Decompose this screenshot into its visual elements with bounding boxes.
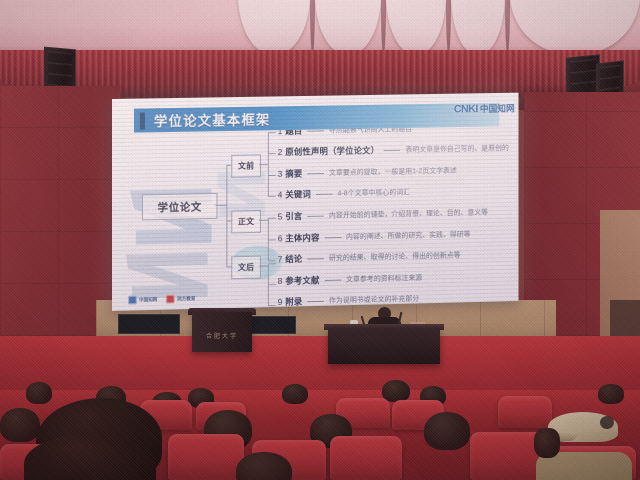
mindmap-group-back-matter: 文后 xyxy=(231,256,261,280)
wall-corner-dark xyxy=(610,300,640,340)
seat xyxy=(330,436,402,480)
cnki-chinese-name: 中国知网 xyxy=(480,102,515,115)
tongfang-footer-label: 同方教育 xyxy=(177,296,195,302)
item-title: 结论 xyxy=(285,253,302,265)
item-connector xyxy=(324,279,341,280)
audience-head xyxy=(0,408,40,442)
presentation-slide: 学位论文基本框架 CNKI 中国知网 学位论文 xyxy=(112,93,519,311)
item-title: 关键词 xyxy=(285,188,311,200)
cnki-logo-icon xyxy=(128,295,137,304)
item-description: 表明文章是你自己写的、是原创的 xyxy=(405,143,508,155)
mindmap-group-front-matter: 文前 xyxy=(231,154,261,177)
item-description: 内容开始前的铺垫，介绍背景、理论、目的、意义等 xyxy=(329,207,488,220)
group-label-back: 文后 xyxy=(238,262,254,273)
item-number: 4 xyxy=(278,190,283,200)
audience-head xyxy=(26,382,52,404)
mindmap-item: 4 关键词 4-8个文章中核心的词汇 xyxy=(278,186,410,201)
item-description: 内容的阐述、所做的研究、实践、得研等 xyxy=(346,229,471,242)
item-title: 主体内容 xyxy=(285,232,319,245)
stage-floor xyxy=(0,336,640,398)
slide-title: 学位论文基本框架 xyxy=(154,108,271,130)
cnki-footer-label: 中国知网 xyxy=(139,297,157,303)
audience-head xyxy=(598,384,624,404)
group-label-body: 正文 xyxy=(238,216,254,227)
cap-badge-icon xyxy=(600,416,614,429)
item-number: 7 xyxy=(278,254,283,264)
item-connector xyxy=(384,149,401,150)
item-title: 原创性声明（学位论文） xyxy=(285,144,379,158)
item-connector xyxy=(307,258,324,259)
item-description: 文章参考的资料标注来源 xyxy=(346,273,422,285)
mindmap-root-label: 学位论文 xyxy=(158,199,202,215)
seat xyxy=(498,396,552,428)
mindmap-group-body: 正文 xyxy=(231,210,261,233)
item-number: 3 xyxy=(278,169,283,179)
cnki-wordmark: CNKI xyxy=(454,103,478,115)
podium-label: 合肥大学 xyxy=(192,331,252,340)
item-description: 4-8个文章中核心的词汇 xyxy=(337,187,410,198)
audience-head xyxy=(282,384,308,404)
item-number: 6 xyxy=(278,233,283,243)
mindmap-item: 2 原创性声明（学位论文） 表明文章是你自己写的、是原创的 xyxy=(278,142,509,158)
item-title: 附录 xyxy=(285,295,302,307)
item-connector xyxy=(316,193,333,194)
mindmap-root-node: 学位论文 xyxy=(142,193,218,220)
audience-head xyxy=(424,412,470,450)
item-title: 摘要 xyxy=(285,167,302,179)
slide-mindmap: 学位论文 文前 正文 文后 xyxy=(112,126,519,303)
item-number: 5 xyxy=(278,212,283,222)
item-number: 2 xyxy=(278,147,283,157)
audience-head xyxy=(534,428,560,458)
cnki-logo: CNKI 中国知网 xyxy=(454,102,515,116)
cnki-footer-logo: 中国知网 xyxy=(128,295,157,305)
item-description: 研究的结果、取得的讨论、得出的创新点等 xyxy=(329,250,461,263)
group-label-front: 文前 xyxy=(238,160,254,171)
mindmap-item: 3 摘要 文章要点的提取，一般是用1-2页文字表述 xyxy=(278,165,457,180)
tongfang-footer-logo: 同方教育 xyxy=(166,294,195,304)
item-connector xyxy=(324,237,341,238)
item-connector xyxy=(307,130,324,131)
title-accent-bar xyxy=(140,112,145,129)
mindmap-item: 6 主体内容 内容的阐述、所做的研究、实践、得研等 xyxy=(278,228,471,244)
photo-frame: 学位论文基本框架 CNKI 中国知网 学位论文 xyxy=(0,0,640,480)
tongfang-logo-icon xyxy=(166,294,175,303)
wall-left xyxy=(0,86,120,336)
podium: 合肥大学 xyxy=(192,312,252,352)
seat xyxy=(470,432,544,480)
item-connector xyxy=(307,215,324,216)
slide-footer-logos: 中国知网 同方教育 xyxy=(128,294,195,305)
projection-screen: 学位论文基本框架 CNKI 中国知网 学位论文 xyxy=(112,93,519,311)
audience-seating xyxy=(0,390,640,480)
item-connector xyxy=(307,300,324,301)
wall-monitor-left xyxy=(118,314,180,334)
item-number: 9 xyxy=(278,297,283,307)
seat xyxy=(168,434,244,480)
item-number: 8 xyxy=(278,276,283,286)
item-description: 文章要点的提取，一般是用1-2页文字表述 xyxy=(329,166,457,178)
item-title: 参考文献 xyxy=(285,274,319,287)
mindmap-item: 8 参考文献 文章参考的资料标注来源 xyxy=(278,272,423,287)
speaker-table xyxy=(328,328,440,364)
item-connector xyxy=(307,172,324,173)
mindmap-item: 5 引言 内容开始前的铺垫，介绍背景、理论、目的、意义等 xyxy=(278,206,488,222)
item-title: 引言 xyxy=(285,210,302,222)
mindmap-item: 7 结论 研究的结果、取得的讨论、得出的创新点等 xyxy=(278,249,461,265)
